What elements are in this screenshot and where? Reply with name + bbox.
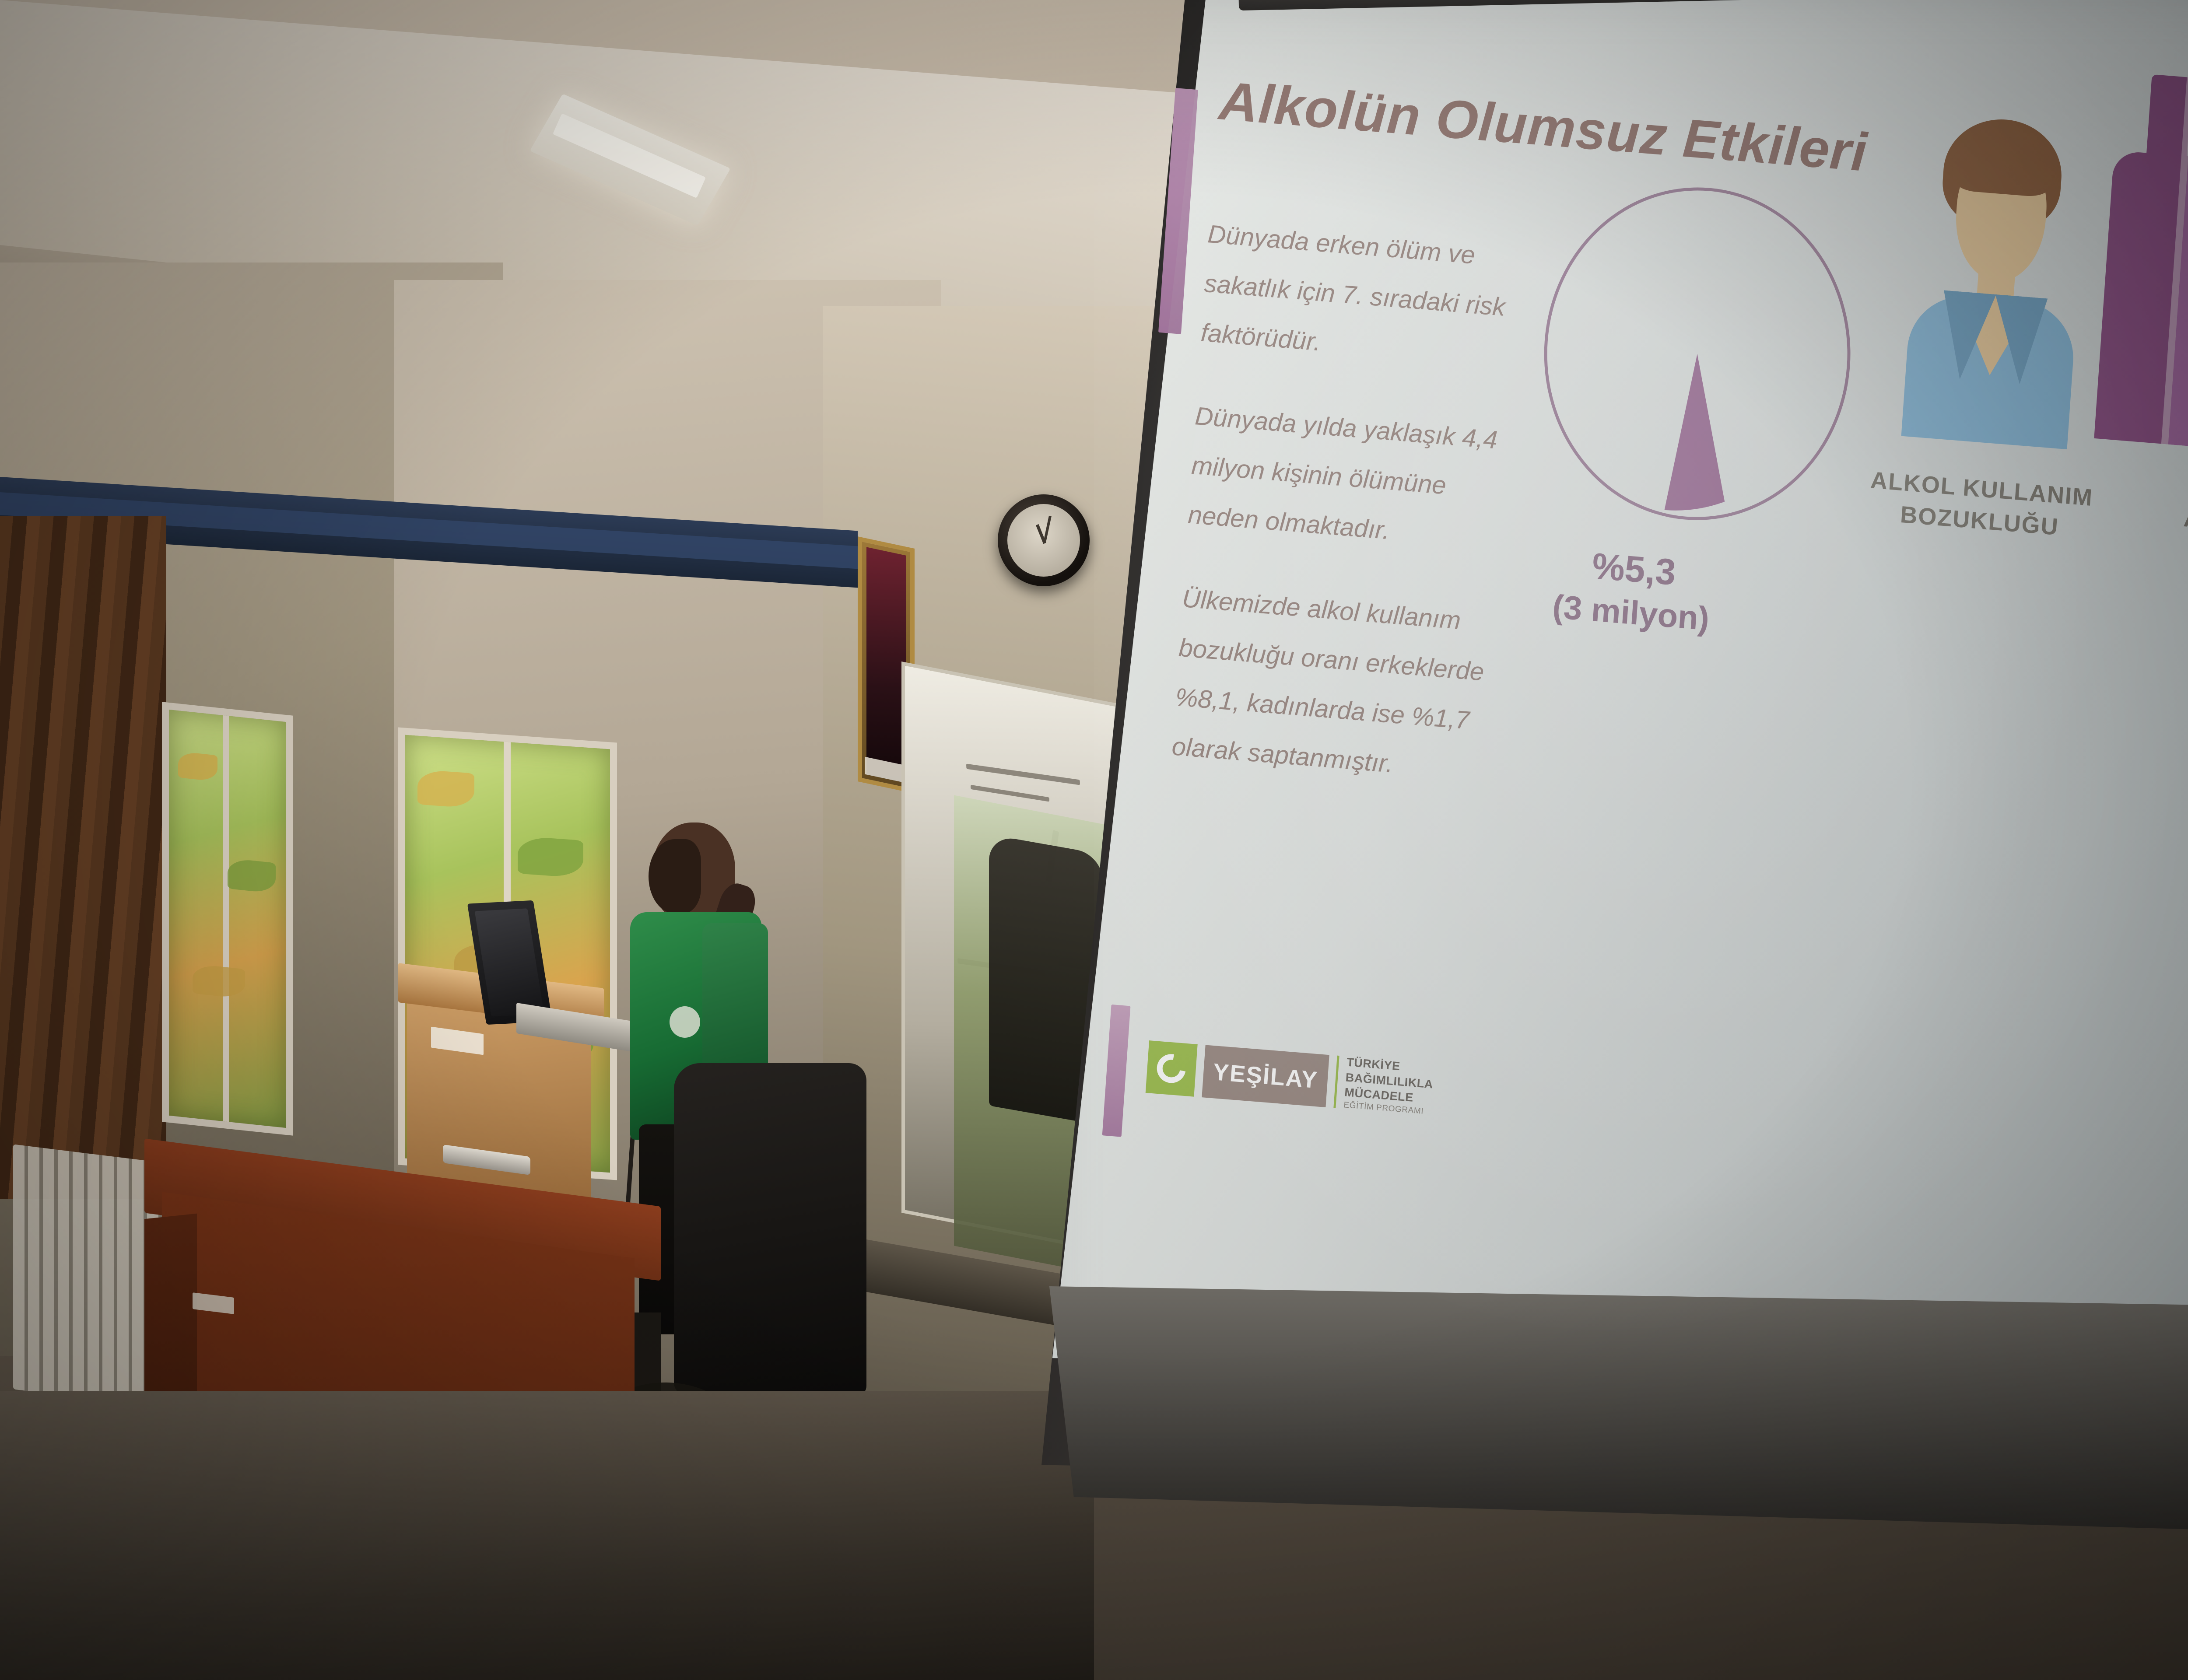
window-foliage — [518, 836, 583, 878]
pie-chart-label: %5,3 (3 milyon) — [1516, 537, 1749, 643]
presentation-slide: Alkolün Olumsuz Etkileri Dünyada erken ö… — [1087, 13, 2188, 1333]
slide-accent-bar — [1158, 88, 1198, 334]
caption-alkol-kullanim-bozuklugu-left: ALKOL KULLANIM BOZUKLUĞU — [1856, 463, 2105, 546]
slide-paragraph-2: Dünyada yılda yaklaşık 4,4 milyon kişini… — [1186, 391, 1502, 564]
window-foliage — [417, 770, 474, 808]
presenter-badge — [670, 1006, 700, 1038]
window-left — [162, 702, 293, 1136]
screen-bottom-bar — [1037, 1286, 2188, 1531]
logo-divider — [1333, 1056, 1339, 1108]
slide-paragraph-3: Ülkemizde alkol kullanım bozukluğu oranı… — [1170, 574, 1489, 795]
window-foliage — [178, 751, 217, 781]
slide-accent-bar-lower — [1102, 1004, 1131, 1137]
projection-screen: Alkolün Olumsuz Etkileri Dünyada erken ö… — [1041, 0, 2188, 1487]
slide-body-text: Dünyada erken ölüm ve sakatlık için 7. s… — [1168, 209, 1515, 829]
window-curtain — [0, 516, 166, 1199]
male-person-icon — [1893, 112, 2099, 450]
whiteboard-writing — [971, 785, 1049, 802]
pie-slice-alkol-kullanim-bozuklugu — [1665, 352, 1735, 515]
window-mullion — [223, 715, 229, 1122]
yesilay-crescent-icon — [1146, 1040, 1198, 1097]
portrait-photo — [866, 547, 906, 783]
alcohol-bottle-icon — [2086, 71, 2188, 448]
crescent-shape — [1151, 1049, 1192, 1089]
yesilay-tbm-logo: YEŞİLAY TÜRKİYE BAĞIMLILIKLA MÜCADELE EĞ… — [1145, 1029, 1481, 1130]
slide-title: Alkolün Olumsuz Etkileri — [1217, 70, 1963, 191]
yesilay-wordmark: YEŞİLAY — [1202, 1045, 1329, 1107]
pie-chart — [1533, 175, 1862, 532]
caption-alkol-kullanim-bozuklugu-right: ALKOL KULLANIM BOZUKLUĞU — [2178, 503, 2188, 584]
coat-on-chair — [674, 1063, 866, 1396]
window-foliage — [193, 964, 245, 999]
tbm-program-text: TÜRKİYE BAĞIMLILIKLA MÜCADELE EĞİTİM PRO… — [1343, 1055, 1481, 1121]
floor — [0, 1391, 1094, 1680]
screenshot-root: Alkolün Olumsuz Etkileri Dünyada erken ö… — [0, 0, 2188, 1680]
pie-chart-slice-svg — [1533, 175, 1862, 532]
presenter-face — [649, 839, 701, 913]
slide-paragraph-1: Dünyada erken ölüm ve sakatlık için 7. s… — [1199, 209, 1515, 382]
window-foliage — [228, 858, 276, 894]
